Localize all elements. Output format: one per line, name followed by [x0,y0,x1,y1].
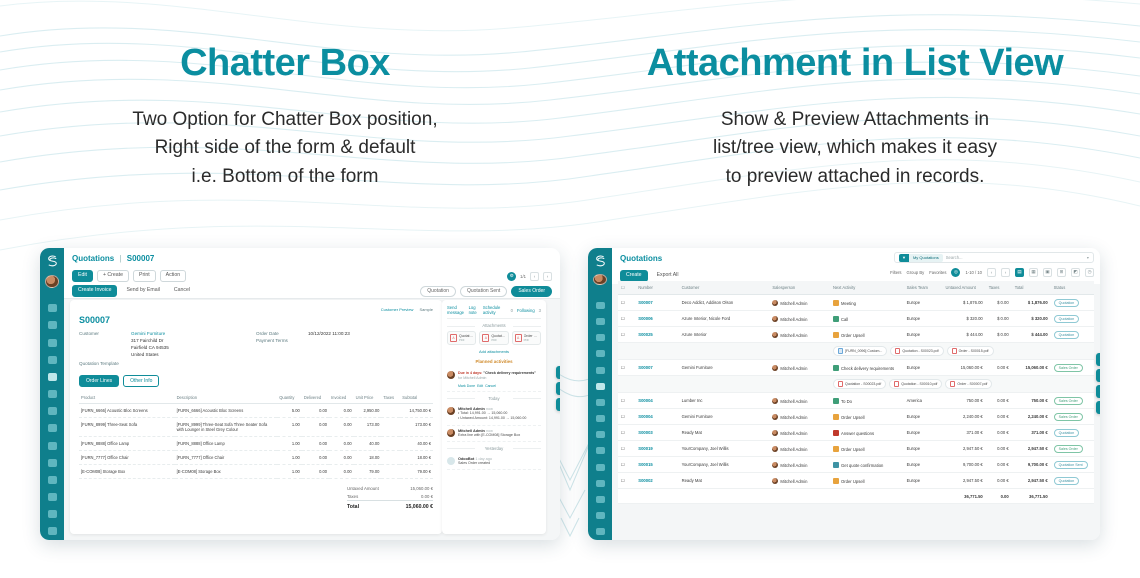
screenshot-list-view: Quotations Create Export All ▼ My Quotat… [588,248,1100,540]
sidebar-icon-crm[interactable] [596,350,605,357]
cell-total: 2,947.50 € [1012,473,1051,489]
field-value-order-date[interactable]: 10/12/2022 11:00:23 [308,331,350,336]
avatar [772,316,778,322]
cell-customer: Lumber Inc [679,393,770,409]
record-settings-icon[interactable]: ⚙ [507,272,516,281]
table-row[interactable]: ☐S00002Ready MatMitchell AdminOrder Upse… [618,473,1094,489]
activity-edit-button[interactable]: Edit [477,384,483,388]
star-icon[interactable]: ★ [1096,353,1100,366]
breadcrumb-record: S00007 [127,254,155,263]
app-logo-icon [43,253,61,269]
cell-next-activity: To Do [830,393,904,409]
sidebar-icon-crm[interactable] [48,356,57,364]
sidebar-icon-website[interactable] [48,459,57,467]
cell-product: [E-COM08] Storage Box [79,465,175,479]
settings-icon[interactable]: ⚙ [1096,369,1100,382]
attachments-section-label: Attachments [447,323,541,328]
cell-taxes: $ 0.00 [986,327,1012,343]
sidebar-icon-subscription[interactable] [596,367,605,374]
cell-next-activity: Meeting [830,295,904,311]
attachment-type: PDF [491,338,505,342]
list-control-bar: Filters Group By Favorites ◎ 1-10 / 10 ‹… [642,266,1094,278]
view-switcher-pivot[interactable]: ⊞ [1057,268,1066,277]
edit-button[interactable]: Edit [72,270,93,281]
breadcrumb[interactable]: Quotations | S00007 [72,254,154,263]
cell-taxes: 0.00 € [986,473,1012,489]
cell-untaxed-amount: 2,947.50 € [943,441,986,457]
table-row[interactable]: ☐S00006Azure Interior, Nicole FordMitche… [618,311,1094,327]
row-checkbox[interactable]: ☐ [618,457,635,473]
feature-desc-line: Two Option for Chatter Box position, [0,106,570,135]
form-pager: 1/1 [520,274,526,279]
status-quotation[interactable]: Quotation [420,286,456,297]
form-pane: Quotations | S00007 Edit + Create Print … [64,248,560,540]
table-row[interactable]: ☐S00015YourCompany, Joel WillisMitchell … [618,457,1094,473]
select-all-checkbox[interactable]: ☐ [618,281,635,295]
cell-number: S00019 [635,441,678,457]
customer-address-country: United States [131,352,159,357]
form-sheet: Customer Preview Sample S00007 CustomerG… [70,300,442,534]
status-badge: Sales Order [1054,445,1083,453]
cell-untaxed-amount: 2,240.00 € [943,409,986,425]
list-pager: 1-10 / 10 [965,270,982,275]
feature-headline-row: Chatter Box Two Option for Chatter Box p… [0,0,1140,215]
cell-salesperson: Mitchell Admin [769,425,830,441]
cell-delivered: 0.00 [302,437,329,451]
avatar [772,430,778,436]
row-checkbox[interactable]: ☐ [618,295,635,311]
view-switcher-calendar[interactable]: ▣ [1043,268,1052,277]
attachment-chip[interactable]: Order - S00007.pdf [945,379,992,389]
expand-icon[interactable]: ⛶ [556,398,560,411]
pager-next-button[interactable]: › [543,272,552,281]
row-checkbox[interactable]: ☐ [618,327,635,343]
sidebar-icon-expenses[interactable] [596,496,605,503]
cell-total: $ 320.00 [1012,311,1051,327]
cell-sales-team: Europe [904,441,943,457]
cell-status: Quotation [1051,473,1094,489]
message-author: Mitchell Admin [458,429,485,433]
sidebar-icon-settings[interactable] [48,527,57,535]
pager-next-button[interactable]: › [1001,268,1010,277]
avatar [772,446,778,452]
attachment-chip-label: Quotation - S00023.pdf [902,349,938,353]
footer-untaxed-total: 36,771.50 [943,489,986,504]
sidebar-icon-manufacturing[interactable] [48,442,57,450]
cell-untaxed-amount: 2,947.50 € [943,473,986,489]
sidebar-icon-sales[interactable] [48,373,57,381]
user-avatar[interactable] [593,274,607,285]
attachment-list: A Quotation - S00023.pdf PDF A Quotation… [447,331,541,345]
sidebar-icon-apps[interactable] [596,512,605,519]
field-value-customer[interactable]: Gemini Furniture [131,331,165,336]
table-row[interactable]: ☐S00004Gemini FurnitureMitchell AdminOrd… [618,409,1094,425]
avatar [772,462,778,468]
col-taxes[interactable]: Taxes [986,281,1012,295]
view-switcher-activity[interactable]: ◷ [1085,268,1094,277]
row-checkbox[interactable]: ☐ [618,409,635,425]
cell-taxes: 0.00 € [986,393,1012,409]
image-icon [838,348,843,354]
feature-description-chatter: Two Option for Chatter Box position, Rig… [0,106,570,192]
attachment-toggle-button[interactable]: ◎ [951,268,960,277]
attachment-chip[interactable]: Order - S00015.pdf [947,346,994,356]
row-checkbox[interactable]: ☐ [618,393,635,409]
cell-quantity: 1.00 [277,451,302,465]
col-untaxed-amount[interactable]: Untaxed Amount [943,281,986,295]
attachment-chip[interactable]: Quotation - S00023.pdf [890,346,943,356]
feature-desc-line: list/tree view, which makes it easy [570,134,1140,163]
cell-next-activity: Check delivery requirements [830,360,904,376]
sidebar-icon-discuss[interactable] [48,304,57,312]
col-status[interactable]: Status [1051,281,1094,295]
cell-number: S00006 [635,311,678,327]
cell-status: Sales Order [1051,441,1094,457]
col-invoiced[interactable]: Invoiced [329,392,354,404]
cell-number: S00015 [635,457,678,473]
col-next-activity[interactable]: Next Activity [830,281,904,295]
cell-description: [E-COM08] Storage Box [175,465,278,479]
cell-salesperson: Mitchell Admin [769,360,830,376]
app-logo-icon [591,253,609,268]
col-customer[interactable]: Customer [679,281,770,295]
avatar [447,429,455,437]
attachment-count: 0 [511,308,513,313]
cell-total: 371.00 € [1012,425,1051,441]
cell-taxes: $ 0.00 [986,311,1012,327]
activity-type-icon [833,316,839,322]
facet-label: My Quotations [909,254,943,262]
cell-sales-team: Europe [904,327,943,343]
col-description[interactable]: Description [175,392,278,404]
cell-quantity: 5.00 [277,404,302,418]
sidebar-icon-employees[interactable] [48,476,57,484]
feature-title-chatter: Chatter Box [0,44,570,84]
order-line-row[interactable]: [FURN_6666] Acoustic Bloc Screens [FURN_… [79,404,433,418]
cell-description: [FURN_6666] Acoustic Bloc Screens [175,404,278,418]
attachment-card[interactable]: A Order - S00007.pdf PDF [512,331,541,345]
activity-type-icon [833,332,839,338]
cell-status: Quotation [1051,311,1094,327]
search-facet[interactable]: ▼ My Quotations [899,254,943,262]
expand-icon[interactable]: ⛶ [1096,385,1100,398]
avatar [772,414,778,420]
cell-sales-team: Europe [904,473,943,489]
user-avatar[interactable] [45,275,59,288]
attachment-chip[interactable]: [FURN_0096] Custom... [833,346,887,356]
sidebar-icon-invoicing[interactable] [48,390,57,398]
status-sales-order[interactable]: Sales Order [511,286,552,297]
table-row[interactable]: ☐S00025Azure InteriorMitchell AdminOrder… [618,327,1094,343]
chatter-panel: Send message Log note Schedule activity … [442,300,546,534]
cell-invoiced: 0.00 [329,451,354,465]
cell-taxes [381,437,400,451]
sidebar-icon-recruitment[interactable] [48,493,57,501]
attachment-chip-label: Order - S00007.pdf [957,382,987,386]
cell-status: Sales Order [1051,393,1094,409]
send-message-button[interactable]: Send message [447,305,465,315]
cell-status: Sales Order [1051,409,1094,425]
quotations-list[interactable]: ☐ Number Customer Salesperson Next Activ… [618,281,1094,536]
row-checkbox[interactable]: ☐ [618,441,635,457]
col-total[interactable]: Total [1012,281,1051,295]
message-time: now [486,429,493,433]
status-quotation-sent[interactable]: Quotation Sent [460,286,507,297]
cell-untaxed-amount: $ 444.00 [943,327,986,343]
order-lines-table: Product Description Quantity Delivered I… [79,392,433,479]
cell-number: S00004 [635,393,678,409]
col-salesperson[interactable]: Salesperson [769,281,830,295]
cell-customer: Ready Mat [679,473,770,489]
feature-column-chatter: Chatter Box Two Option for Chatter Box p… [0,0,570,215]
total-value-untaxed: 15,060.00 € [410,486,433,491]
cell-untaxed-amount: 9,700.00 € [943,457,986,473]
form-action-toolbar: Edit + Create Print Action ⚙ 1/1 ‹ › [64,268,560,284]
create-invoice-button[interactable]: Create Invoice [72,285,117,296]
cell-number: S00025 [635,327,678,343]
sidebar-icon-purchase[interactable] [48,424,57,432]
activity-type-icon [833,414,839,420]
record-title: S00007 [79,315,433,325]
col-subtotal[interactable]: Subtotal [400,392,433,404]
sidebar-icon-sales[interactable] [596,383,605,390]
star-icon[interactable]: ★ [556,366,560,379]
cell-next-activity: Order Upsell [830,409,904,425]
follower-count: 3 [539,308,541,313]
attachment-card[interactable]: A Quotation - S00023.pdf PDF [447,331,476,345]
activity-cancel-button[interactable]: Cancel [485,384,496,388]
sidebar-icon-recruitment[interactable] [596,480,605,487]
message-item: Mitchell Admin now Extra line with [E-CO… [447,426,541,442]
create-button[interactable]: + Create [97,270,129,281]
row-checkbox[interactable]: ☐ [618,473,635,489]
cell-customer: YourCompany, Joel Willis [679,457,770,473]
total-value-taxes: 0.00 € [421,494,433,499]
col-sales-team[interactable]: Sales Team [904,281,943,295]
filters-button[interactable]: Filters [890,270,901,275]
feature-desc-line: Right side of the form & default [0,134,570,163]
form-column-left: CustomerGemini Furniture 317 Fairchild D… [79,331,256,368]
list-header-row: ☐ Number Customer Salesperson Next Activ… [618,281,1094,295]
cell-untaxed-amount: $ 1,876.00 [943,295,986,311]
field-label-customer: Customer [79,331,131,336]
mark-done-button[interactable]: Mark Done [458,384,475,388]
pdf-icon: A [482,334,489,342]
floating-tool-rail-left: ★ ⌕ ⛶ [556,366,560,411]
sidebar-icon-apps[interactable] [48,510,57,518]
feature-desc-line: i.e. Bottom of the form [0,163,570,192]
cell-salesperson: Mitchell Admin [769,473,830,489]
pdf-icon [894,381,899,387]
cancel-button[interactable]: Cancel [169,286,195,295]
total-label-grand: Total [347,504,359,510]
row-checkbox[interactable]: ☐ [618,311,635,327]
cell-subtotal: 40.00 € [400,437,433,451]
cell-unit-price: 40.00 [354,437,382,451]
attachment-row: [FURN_0096] Custom...Quotation - S00023.… [618,343,1094,360]
status-badge: Quotation [1054,299,1080,307]
attachment-chip[interactable]: Quotation - S00023.pdf [833,379,886,389]
tab-order-lines[interactable]: Order Lines [79,375,119,387]
print-button[interactable]: Print [133,270,156,281]
search-icon[interactable]: ⌕ [556,382,560,395]
cell-status: Quotation [1051,327,1094,343]
pdf-icon: A [450,334,457,342]
cell-sales-team: Europe [904,360,943,376]
view-switcher-graph[interactable]: ◩ [1071,268,1080,277]
cell-customer: YourCompany, Joel Willis [679,441,770,457]
cell-delivered: 0.00 [302,465,329,479]
cell-salesperson: Mitchell Admin [769,311,830,327]
order-line-row[interactable]: [E-COM08] Storage Box [E-COM08] Storage … [79,465,433,479]
status-badge: Sales Order [1054,397,1083,405]
avatar [772,478,778,484]
cell-number: S00007 [635,360,678,376]
cell-number: S00004 [635,409,678,425]
breadcrumb[interactable]: Quotations [620,254,662,263]
log-note-button[interactable]: Log note [469,305,479,315]
cell-total: $ 1,876.00 [1012,295,1051,311]
cell-description: [FURN_7777] Office Chair [175,451,278,465]
customer-preview-button[interactable]: Customer Preview [381,307,414,312]
cell-customer: Azure Interior [679,327,770,343]
search-bar[interactable]: ▼ My Quotations Search... ▾ [894,252,1094,263]
col-number[interactable]: Number [635,281,678,295]
sidebar-icon-inventory[interactable] [48,407,57,415]
cell-product: [FURN_8888] Office Lamp [79,437,175,451]
sidebar-icon-manufacturing[interactable] [596,431,605,438]
row-checkbox[interactable]: ☐ [618,360,635,376]
sidebar-icon-contacts[interactable] [48,321,57,329]
attachment-chip-container: [FURN_0096] Custom...Quotation - S00023.… [830,343,1094,360]
app-sidebar-left[interactable] [40,248,64,540]
add-attachments-button[interactable]: Add attachments [447,349,541,354]
search-input[interactable]: Search... [946,255,963,260]
cell-customer: Deco Addict, Addison Olson [679,295,770,311]
sidebar-icon-calendar[interactable] [48,339,57,347]
col-delivered[interactable]: Delivered [302,392,329,404]
cell-next-activity: Order Upsell [830,327,904,343]
cell-delivered: 0.00 [302,418,329,437]
group-by-button[interactable]: Group By [907,270,925,275]
planned-activities-label: Planned activities [447,359,541,364]
sidebar-icon-settings[interactable] [596,528,605,535]
avatar [447,371,455,379]
grid-icon[interactable]: ▦ [1096,401,1100,414]
row-checkbox[interactable]: ☐ [618,425,635,441]
table-row[interactable]: ☐S00003Ready MatMitchell AdminAnswer que… [618,425,1094,441]
day-separator-yesterday: Yesterday [447,446,541,451]
cell-taxes: $ 0.00 [986,295,1012,311]
breadcrumb-root[interactable]: Quotations [72,254,114,263]
cell-sales-team: Europe [904,409,943,425]
order-line-row[interactable]: [FURN_7777] Office Chair [FURN_7777] Off… [79,451,433,465]
pager-previous-button[interactable]: ‹ [530,272,539,281]
sample-button[interactable]: Sample [419,307,433,312]
table-row[interactable]: ☐S00007Gemini FurnitureMitchell AdminChe… [618,360,1094,376]
cell-customer: Ready Mat [679,425,770,441]
search-dropdown-icon[interactable]: ▾ [1087,255,1089,260]
cell-sales-team: America [904,393,943,409]
cell-untaxed-amount: 750.00 € [943,393,986,409]
cell-total: 2,947.50 € [1012,441,1051,457]
cell-total: 15,060.00 € [1012,360,1051,376]
favorites-button[interactable]: Favorites [929,270,946,275]
sidebar-icon-inventory[interactable] [596,415,605,422]
view-switcher-kanban[interactable]: ▦ [1029,268,1038,277]
send-by-email-button[interactable]: Send by Email [121,286,164,295]
cell-description: [FURN_8888] Office Lamp [175,437,278,451]
cell-status: Quotation Sent [1051,457,1094,473]
cell-next-activity: Answer questions [830,425,904,441]
cell-quantity: 1.00 [277,418,302,437]
table-row[interactable]: ☐S00019YourCompany, Joel WillisMitchell … [618,441,1094,457]
field-label-order-date: Order Date [256,331,308,336]
sidebar-icon-discuss[interactable] [596,302,605,309]
activity-type-icon [833,300,839,306]
cell-number: S00007 [635,295,678,311]
cell-invoiced: 0.00 [329,404,354,418]
action-button[interactable]: Action [160,270,186,281]
sidebar-icon-website[interactable] [596,447,605,454]
schedule-activity-button[interactable]: Schedule activity [483,305,503,315]
feature-title-attachment: Attachment in List View [570,44,1140,84]
sidebar-icon-employees[interactable] [596,464,605,471]
pdf-icon [952,348,957,354]
cell-sales-team: Europe [904,295,943,311]
col-taxes[interactable]: Taxes [381,392,400,404]
order-line-row[interactable]: [FURN_8999] Three-Seat Sofa [FURN_8999] … [79,418,433,437]
cell-taxes: 0.00 € [986,457,1012,473]
col-product[interactable]: Product [79,392,175,404]
status-badge: Quotation [1054,331,1080,339]
sidebar-icon-invoicing[interactable] [596,399,605,406]
sidebar-icon-contacts[interactable] [596,318,605,325]
attachment-chip-container: Quotation - S00023.pdfQuotation - S00010… [830,376,1094,393]
table-row[interactable]: ☐S00007Deco Addict, Addison OlsonMitchel… [618,295,1094,311]
cell-customer: Gemini Furniture [679,409,770,425]
pdf-icon [838,381,843,387]
activity-type-icon [833,398,839,404]
table-row[interactable]: ☐S00004Lumber IncMitchell AdminTo DoAmer… [618,393,1094,409]
cell-sales-team: Europe [904,311,943,327]
feature-column-attachment: Attachment in List View Show & Preview A… [570,0,1140,215]
cell-subtotal: 18.00 € [400,451,433,465]
app-sidebar-right[interactable] [588,248,612,540]
order-lines-header-row: Product Description Quantity Delivered I… [79,392,433,404]
activity-subject: "Check delivery requirements" [483,371,536,375]
pager-previous-button[interactable]: ‹ [987,268,996,277]
order-line-row[interactable]: [FURN_8888] Office Lamp [FURN_8888] Offi… [79,437,433,451]
avatar [772,365,778,371]
col-unit-price[interactable]: Unit Price [354,392,382,404]
sidebar-icon-calendar[interactable] [596,334,605,341]
tab-other-info[interactable]: Other Info [123,375,159,387]
cell-total: 2,240.00 € [1012,409,1051,425]
chatter-action-bar: Send message Log note Schedule activity … [447,305,541,319]
feature-desc-line: to preview attached in records. [570,163,1140,192]
cell-untaxed-amount: 371.00 € [943,425,986,441]
message-item: Mitchell Admin now • Total: 14,991.00 → … [447,404,541,426]
view-switcher-list[interactable]: ▤ [1015,268,1024,277]
attachment-chip[interactable]: Quotation - S00010.pdf [889,379,942,389]
pdf-icon [895,348,900,354]
following-button[interactable]: Following [517,308,535,313]
footer-grand-total: 36,771.50 [1012,489,1051,504]
attachment-card[interactable]: A Quotation - S00010.pdf PDF [479,331,508,345]
list-footer-row: 36,771.500.0036,771.50 [618,489,1094,504]
col-quantity[interactable]: Quantity [277,392,302,404]
